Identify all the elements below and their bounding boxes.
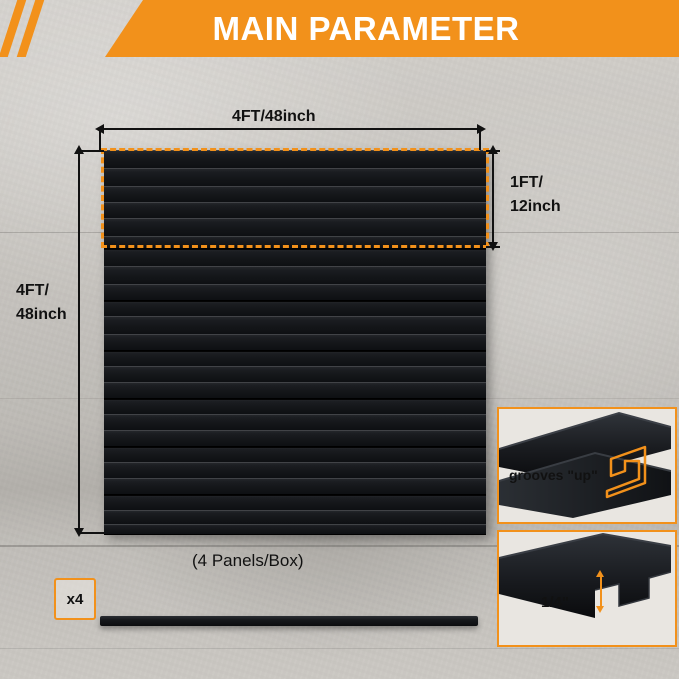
panel-slat [104, 478, 486, 495]
top-dimension-label: 4FT/48inch [232, 108, 316, 126]
panel-slat [104, 334, 486, 351]
thickness-arrow-head-up [596, 570, 604, 577]
panel-slat [104, 430, 486, 447]
top-dimension-tick-right [479, 128, 481, 150]
thickness-arrow-head-down [596, 606, 604, 613]
slat-highlight [104, 316, 486, 317]
panel-groove [104, 446, 486, 449]
panel-slat [104, 382, 486, 399]
one-foot-section-highlight [101, 148, 489, 248]
grooves-up-callout: grooves "up" [497, 407, 677, 524]
panel-slat [104, 414, 486, 431]
section-dimension-label-line2: 12inch [510, 198, 561, 216]
panel-groove [104, 300, 486, 303]
panel-slat [104, 524, 486, 535]
thickness-arrow-line [600, 576, 602, 606]
slat-highlight [104, 366, 486, 367]
header-banner: MAIN PARAMETER [105, 0, 679, 57]
slat-highlight [104, 334, 486, 335]
section-dimension-tick-top [486, 150, 500, 152]
section-dimension-label-line1: 1FT/ [510, 174, 543, 192]
top-dimension-line [99, 128, 481, 130]
thickness-illustration [499, 532, 671, 641]
panels-per-box-caption: (4 Panels/Box) [192, 551, 304, 571]
page-title: MAIN PARAMETER [212, 10, 519, 48]
section-dimension-line [492, 150, 494, 248]
panel-slat [104, 266, 486, 285]
slat-highlight [104, 382, 486, 383]
left-dimension-line [78, 150, 80, 534]
slat-highlight [104, 510, 486, 511]
slat-highlight [104, 478, 486, 479]
slat-highlight [104, 430, 486, 431]
left-dimension-label-line1: 4FT/ [16, 282, 49, 300]
panel-slat [104, 462, 486, 479]
panel-slat [104, 510, 486, 525]
grooves-up-illustration [499, 409, 671, 518]
thickness-label: 1/4" [541, 594, 569, 611]
panel-groove [104, 398, 486, 401]
slat-highlight [104, 414, 486, 415]
floor-seam [0, 648, 679, 649]
quantity-badge: x4 [54, 578, 96, 620]
slat-highlight [104, 284, 486, 285]
section-dimension-tick-bottom [486, 246, 500, 248]
grooves-up-label: grooves "up" [509, 467, 598, 483]
panel-slat [104, 316, 486, 335]
left-dimension-tick-top [78, 150, 104, 152]
panel-groove [104, 494, 486, 497]
thickness-callout: 1/4" [497, 530, 677, 647]
panel-groove [104, 248, 486, 251]
panel-slat [104, 366, 486, 383]
left-dimension-label-line2: 48inch [16, 306, 67, 324]
panel-groove [104, 350, 486, 353]
top-dimension-tick-left [99, 128, 101, 150]
single-panel-edge-view [100, 616, 478, 626]
panel-slat [104, 284, 486, 301]
left-dimension-tick-bottom [78, 532, 104, 534]
slat-highlight [104, 462, 486, 463]
slat-highlight [104, 524, 486, 525]
slat-highlight [104, 266, 486, 267]
